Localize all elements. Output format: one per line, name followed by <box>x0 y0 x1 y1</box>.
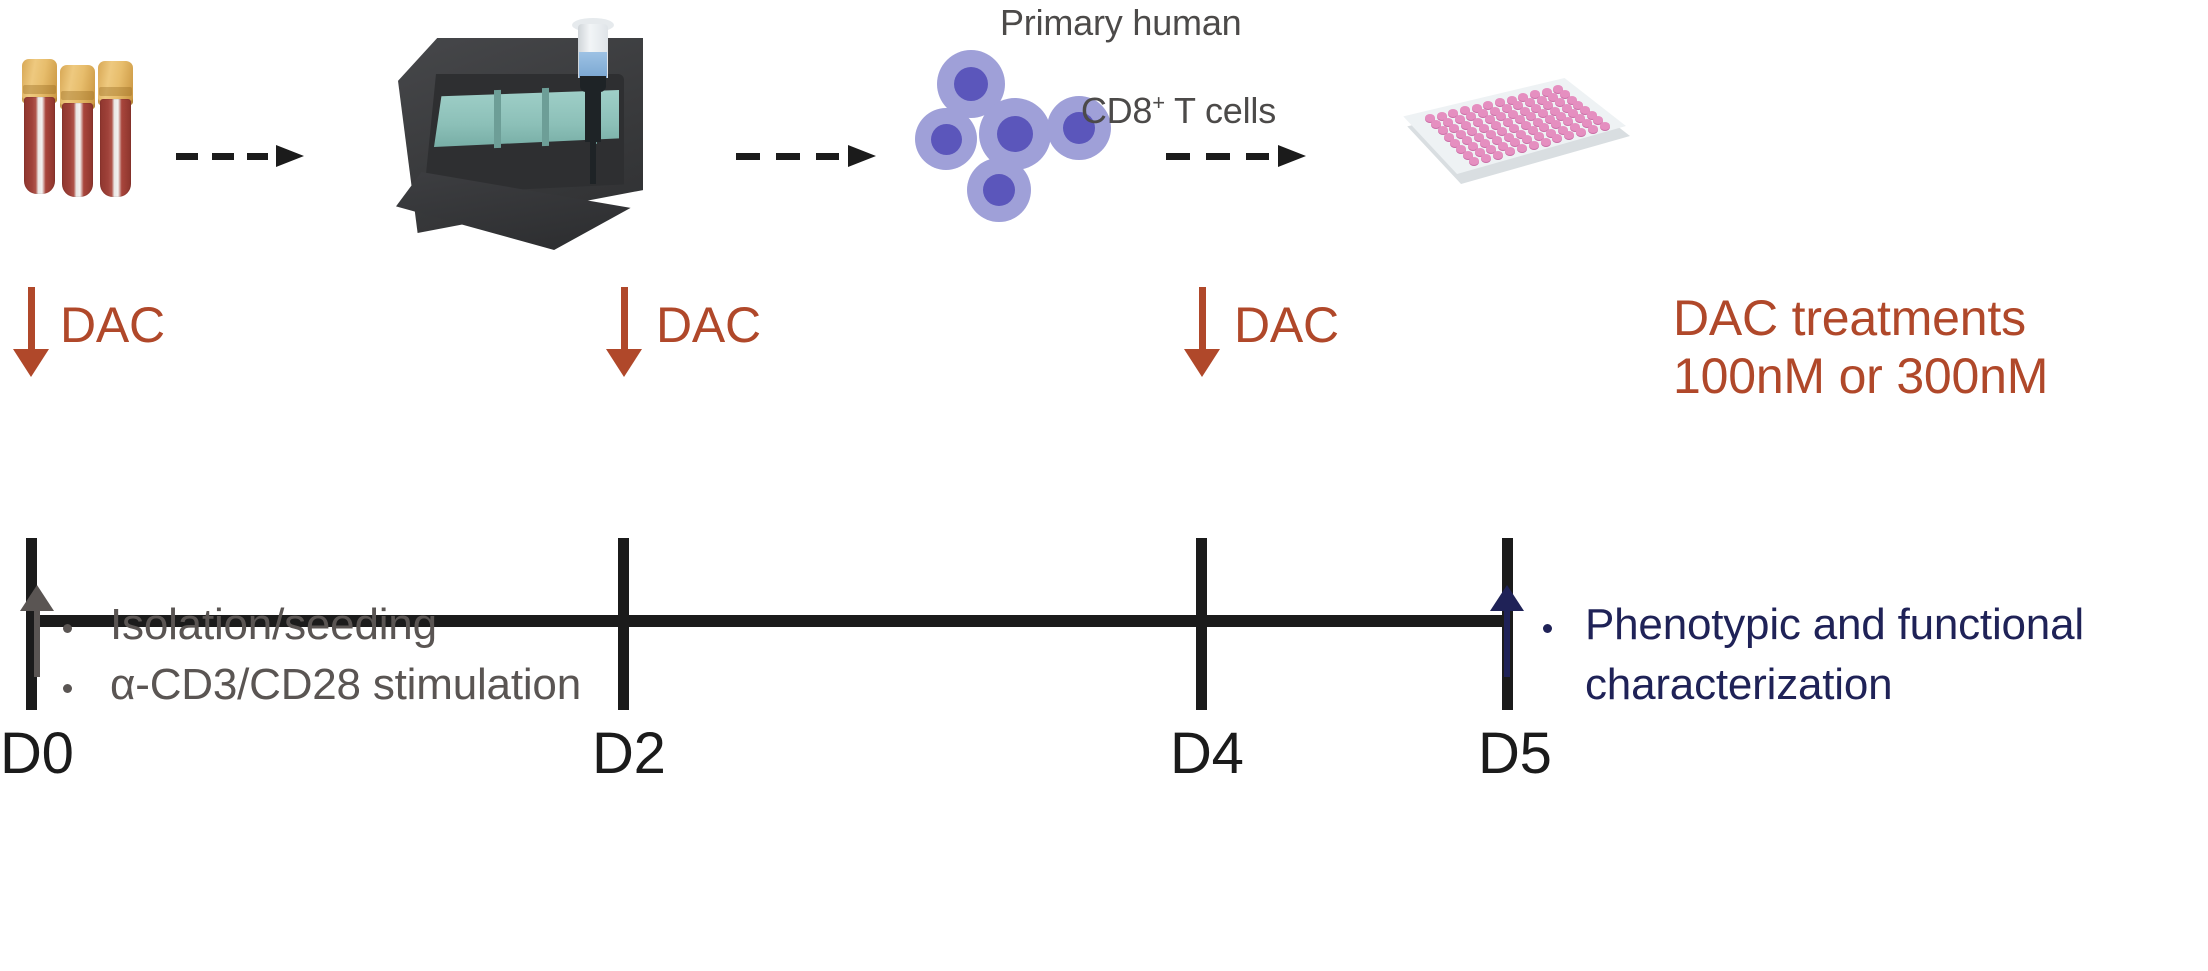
dac-arrow-d4 <box>1184 287 1220 379</box>
plate-well <box>1552 134 1562 142</box>
dashed-arrow-icon <box>1166 145 1316 167</box>
start-annotation-bullet-2: α-CD3/CD28 stimulation <box>110 659 581 711</box>
dac-treatment-note-line1: DAC treatments <box>1673 289 2026 348</box>
cell-label-line1: Primary human <box>1000 2 1241 44</box>
end-annotation-bullet-1: Phenotypic and functional <box>1585 599 2084 651</box>
day-label-d4: D4 <box>1170 720 1244 788</box>
plate-well <box>1541 138 1551 146</box>
dac-label-d0: DAC <box>60 296 165 355</box>
blood-collection-tubes-icon <box>22 55 137 200</box>
plate-well <box>1576 128 1586 136</box>
day-label-d0: D0 <box>0 720 74 788</box>
day-label-d2: D2 <box>592 720 666 788</box>
day-label-d5: D5 <box>1478 720 1552 788</box>
experiment-timeline: D0 D2 D4 D5 DAC DAC DAC DAC treatments 1… <box>0 290 2208 971</box>
dac-label-d2: DAC <box>656 296 761 355</box>
pipette-column-icon <box>570 18 618 198</box>
plate-well <box>1481 154 1491 162</box>
plate-well <box>1564 131 1574 139</box>
dac-arrow-d0 <box>13 287 49 379</box>
plate-well <box>1517 144 1527 152</box>
plate-well <box>1588 125 1598 133</box>
dac-label-d4: DAC <box>1234 296 1339 355</box>
bullet-icon <box>63 624 72 633</box>
bullet-icon <box>1543 624 1552 633</box>
dashed-arrow-icon <box>176 145 308 167</box>
plate-well <box>1469 157 1479 165</box>
plate-well <box>1493 151 1503 159</box>
magnetic-separation-rack-icon <box>376 22 656 262</box>
cd8-text: CD8 <box>1081 90 1152 131</box>
timeline-tick-d4 <box>1196 538 1207 710</box>
timeline-tick-d2 <box>618 538 629 710</box>
plate-well <box>1505 147 1515 155</box>
up-arrow-icon <box>1490 585 1524 677</box>
end-annotation-bullet-1-cont: characterization <box>1585 659 1892 711</box>
bullet-icon <box>63 684 72 693</box>
cd8-superscript-plus: + <box>1152 90 1165 115</box>
plate-well <box>1529 141 1539 149</box>
96-well-plate-icon <box>1368 62 1638 192</box>
workflow-schematic: Primary human CD8+ T cells <box>0 0 2208 290</box>
start-annotation-bullet-1: Isolation/seeding <box>110 599 437 651</box>
t-cells-text: T cells <box>1165 90 1276 131</box>
dac-arrow-d2 <box>606 287 642 379</box>
figure-canvas: Primary human CD8+ T cells <box>0 0 2208 971</box>
plate-well <box>1600 122 1610 130</box>
dac-treatment-note-line2: 100nM or 300nM <box>1673 347 2048 406</box>
up-arrow-icon <box>20 585 54 677</box>
dashed-arrow-icon <box>736 145 886 167</box>
